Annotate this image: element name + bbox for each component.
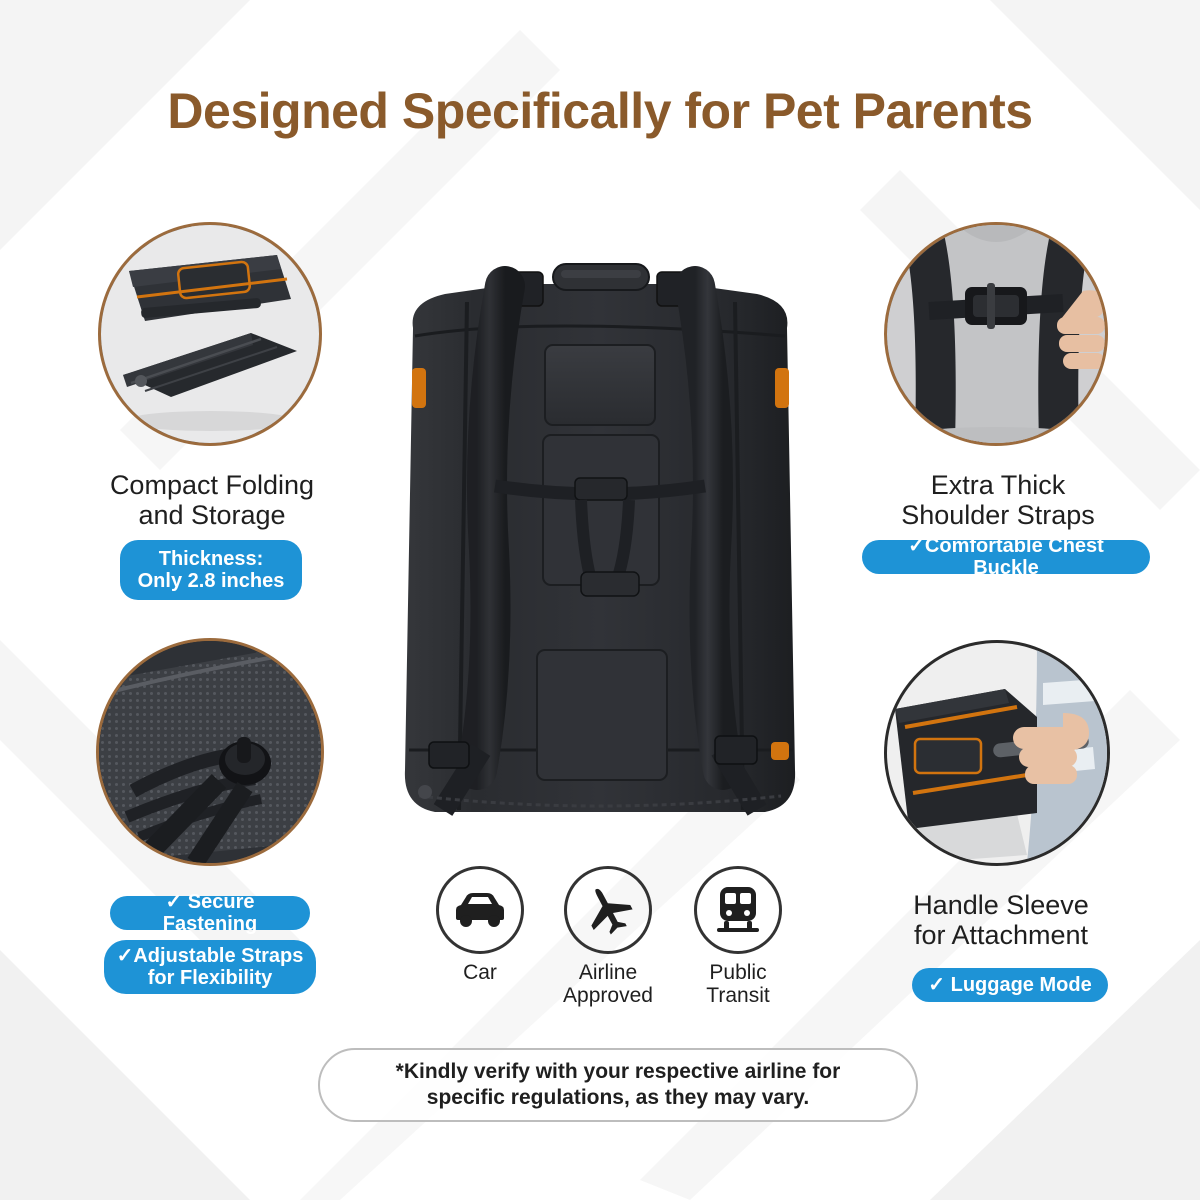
caption-straps-line2: Shoulder Straps xyxy=(848,500,1148,530)
transit-label-line1: Public xyxy=(679,962,797,985)
airline-label: Airline Approved xyxy=(549,962,667,1007)
caption-shoulder-straps: Extra Thick Shoulder Straps xyxy=(848,470,1148,530)
feature-photo-secure-fastening xyxy=(96,638,324,866)
airline-label-line1: Airline xyxy=(549,962,667,985)
caption-compact-line1: Compact Folding xyxy=(58,470,366,500)
caption-compact-folding: Compact Folding and Storage xyxy=(58,470,366,530)
caption-handle-line2: for Attachment xyxy=(848,920,1154,950)
badge-thickness-line1: Thickness: xyxy=(159,548,263,570)
badge-luggage-mode-text: ✓ Luggage Mode xyxy=(928,974,1091,996)
caption-compact-line2: and Storage xyxy=(58,500,366,530)
badge-comfortable-chest-buckle: ✓Comfortable Chest Buckle xyxy=(862,540,1150,574)
train-icon-circle xyxy=(694,866,782,954)
car-label-line1: Car xyxy=(421,962,539,985)
badge-thickness: Thickness: Only 2.8 inches xyxy=(120,540,302,600)
transit-label: Public Transit xyxy=(679,962,797,1007)
product-image xyxy=(385,250,815,850)
feature-photo-chest-buckle xyxy=(884,222,1108,446)
car-icon xyxy=(452,890,508,930)
airplane-icon-circle xyxy=(564,866,652,954)
badge-chest-buckle-text: ✓Comfortable Chest Buckle xyxy=(874,535,1138,580)
badge-secure-fastening: ✓ Secure Fastening xyxy=(110,896,310,930)
feature-photo-handle-sleeve xyxy=(884,640,1110,866)
badge-adjustable-straps: ✓Adjustable Straps for Flexibility xyxy=(104,940,316,994)
badge-adjustable-line1: ✓Adjustable Straps xyxy=(117,945,304,967)
infographic-page: Designed Specifically for Pet Parents xyxy=(0,0,1200,1200)
caption-handle-line1: Handle Sleeve xyxy=(848,890,1154,920)
disclaimer-box: *Kindly verify with your respective airl… xyxy=(318,1048,918,1122)
badge-thickness-line2: Only 2.8 inches xyxy=(138,570,285,592)
page-title: Designed Specifically for Pet Parents xyxy=(0,82,1200,140)
transport-mode-car: Car xyxy=(421,866,539,985)
disclaimer-line2: specific regulations, as they may vary. xyxy=(396,1085,841,1111)
badge-adjustable-line2: for Flexibility xyxy=(148,967,272,989)
caption-straps-line1: Extra Thick xyxy=(848,470,1148,500)
train-icon xyxy=(715,884,761,936)
car-icon-circle xyxy=(436,866,524,954)
badge-secure-fastening-text: ✓ Secure Fastening xyxy=(122,891,298,936)
badge-luggage-mode: ✓ Luggage Mode xyxy=(912,968,1108,1002)
feature-photo-compact-folding xyxy=(98,222,322,446)
car-label: Car xyxy=(421,962,539,985)
transport-mode-airline: Airline Approved xyxy=(549,866,667,1007)
transport-mode-public-transit: Public Transit xyxy=(679,866,797,1007)
airline-label-line2: Approved xyxy=(549,985,667,1008)
transit-label-line2: Transit xyxy=(679,985,797,1008)
airplane-icon xyxy=(582,884,634,936)
caption-handle-sleeve: Handle Sleeve for Attachment xyxy=(848,890,1154,950)
disclaimer-line1: *Kindly verify with your respective airl… xyxy=(396,1059,841,1085)
